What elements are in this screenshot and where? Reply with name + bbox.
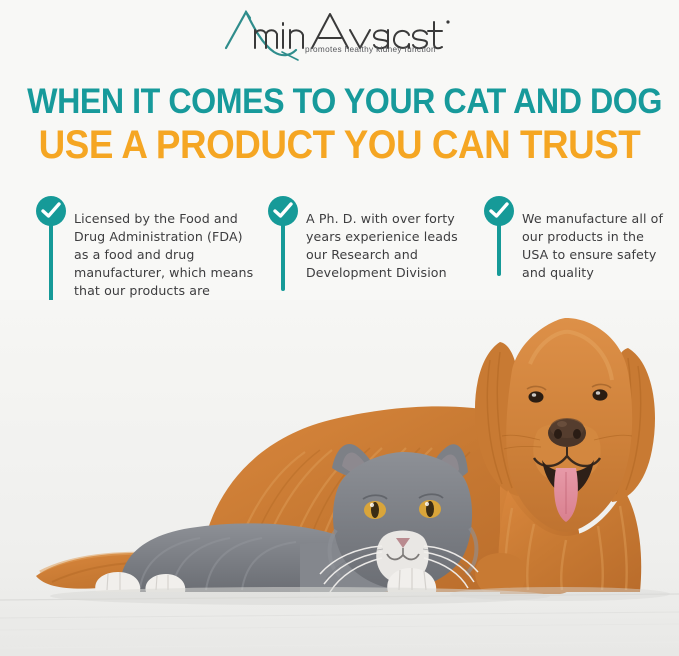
benefit-marker <box>36 196 66 226</box>
checkmark-icon <box>41 202 61 220</box>
check-circle-icon <box>268 196 298 226</box>
checkmark-icon <box>273 202 293 220</box>
promo-banner: promotes healthy kidney function WHEN IT… <box>0 0 679 656</box>
benefit-marker <box>268 196 298 226</box>
brand-tagline: promotes healthy kidney function <box>305 45 436 54</box>
benefit-stem-line <box>497 224 501 276</box>
dog-right-eye <box>593 389 608 400</box>
check-circle-icon <box>36 196 66 226</box>
brand-logo: promotes healthy kidney function <box>0 4 679 62</box>
headline-line-1: WHEN IT COMES TO YOUR CAT AND DOG <box>27 84 652 119</box>
headline-line-2: USE A PRODUCT YOU CAN TRUST <box>27 125 652 165</box>
pets-illustration <box>0 300 679 656</box>
benefit-text: A Ph. D. with over forty years experieni… <box>306 210 476 282</box>
benefit-stem-line <box>281 224 285 291</box>
pets-photo <box>0 300 679 656</box>
benefit-marker <box>484 196 514 226</box>
registered-trademark-icon <box>446 20 449 23</box>
benefit-text: We manufacture all of our products in th… <box>522 210 667 282</box>
check-circle-icon <box>484 196 514 226</box>
checkmark-icon <box>489 202 509 220</box>
dog-left-eye <box>529 391 544 402</box>
headline-block: WHEN IT COMES TO YOUR CAT AND DOG USE A … <box>0 84 679 165</box>
